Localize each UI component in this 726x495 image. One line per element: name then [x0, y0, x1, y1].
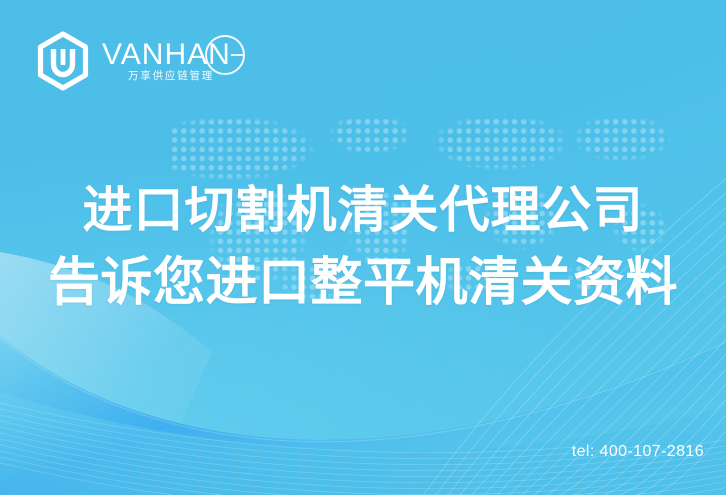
- headline-line-1: 进口切割机清关代理公司: [0, 178, 726, 242]
- logo-subtitle: 万享供应链管理: [128, 68, 214, 83]
- hexagon-u-icon: [34, 31, 92, 91]
- promo-banner: VANHAN 万享供应链管理 进口切割机清关代理公司 告诉您进口整平机清关资料 …: [0, 0, 726, 495]
- headline-block: 进口切割机清关代理公司 告诉您进口整平机清关资料: [0, 178, 726, 317]
- brand-logo[interactable]: VANHAN 万享供应链管理: [34, 30, 102, 92]
- contact-phone[interactable]: tel: 400-107-2816: [572, 443, 704, 461]
- headline-line-2: 告诉您进口整平机清关资料: [0, 250, 726, 317]
